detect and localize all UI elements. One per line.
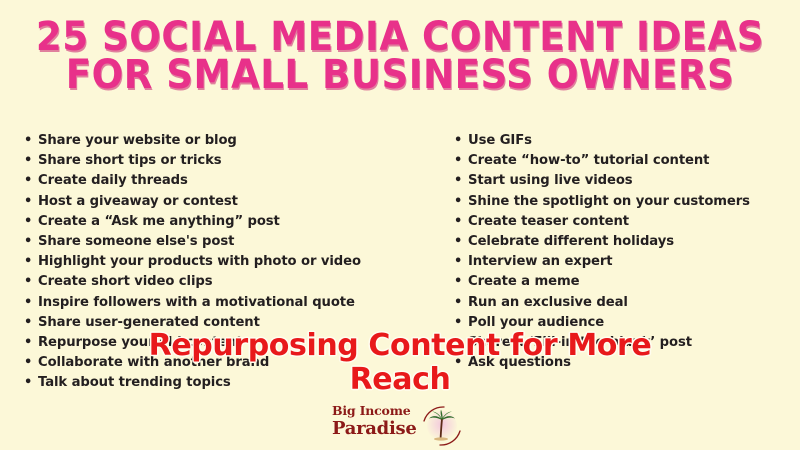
title-line-1: 25 SOCIAL MEDIA CONTENT IDEAS [28, 18, 772, 56]
title-line-2: FOR SMALL BUSINESS OWNERS [28, 56, 772, 94]
list-item: Use GIFs [452, 131, 792, 151]
list-item: Ask questions [452, 353, 792, 373]
idea-list-right: Use GIFs Create “how-to” tutorial conten… [452, 131, 792, 373]
palm-tree-icon [420, 405, 464, 447]
list-item: Celebrate different holidays [452, 232, 792, 252]
list-item: Collaborate with another brand [22, 353, 442, 373]
list-item: Create short video clips [22, 272, 442, 292]
ideas-column-left: Share your website or blog Share short t… [22, 131, 442, 394]
list-item: Poll your audience [452, 313, 792, 333]
list-item: Create a “Ask me anything” post [22, 212, 442, 232]
brand-logo: Big Income Paradise [332, 404, 468, 448]
list-item: Host a giveaway or contest [22, 192, 442, 212]
list-item: Share your website or blog [22, 131, 442, 151]
list-item: Share user-generated content [22, 313, 442, 333]
page-title: 25 SOCIAL MEDIA CONTENT IDEAS FOR SMALL … [0, 18, 800, 94]
list-item: Shine the spotlight on your customers [452, 192, 792, 212]
ideas-column-right: Use GIFs Create “how-to” tutorial conten… [452, 131, 792, 373]
list-item: Repurpose your old content [22, 333, 442, 353]
list-item: Highlight your products with photo or vi… [22, 252, 442, 272]
logo-bottom-word: Paradise [332, 419, 430, 439]
list-item: Create a meme [452, 272, 792, 292]
list-item: Interview an expert [452, 252, 792, 272]
list-item: Share someone else's post [22, 232, 442, 252]
infographic-canvas: 25 SOCIAL MEDIA CONTENT IDEAS FOR SMALL … [0, 0, 800, 450]
list-item: Talk about trending topics [22, 373, 442, 393]
idea-list-left: Share your website or blog Share short t… [22, 131, 442, 394]
list-item: Create teaser content [452, 212, 792, 232]
list-item: Start using live videos [452, 171, 792, 191]
logo-wordmark: Big Income Paradise [332, 404, 430, 439]
list-item: Create daily threads [22, 171, 442, 191]
ideas-columns: Share your website or blog Share short t… [0, 131, 800, 396]
list-item: Share short tips or tricks [22, 151, 442, 171]
logo-top-word: Big Income [332, 404, 430, 418]
list-item: Share a ‘Fill-in-the-blank’ post [452, 333, 792, 353]
list-item: Create “how-to” tutorial content [452, 151, 792, 171]
list-item: Inspire followers with a motivational qu… [22, 293, 442, 313]
list-item: Run an exclusive deal [452, 293, 792, 313]
